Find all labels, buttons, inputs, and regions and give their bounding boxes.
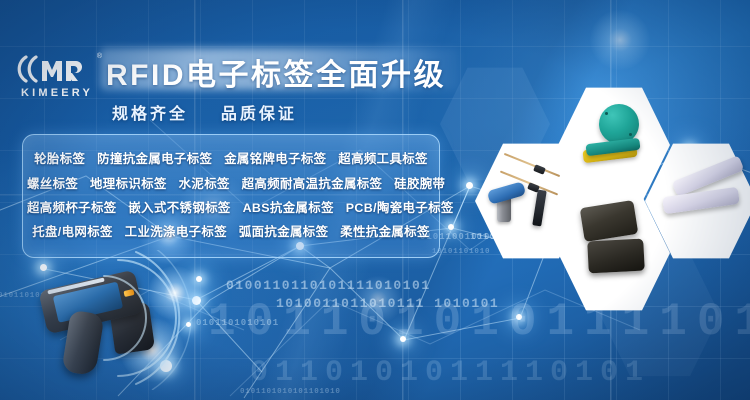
kmr-monogram-icon [14, 52, 100, 86]
tag-item: 金属铭牌电子标签 [224, 152, 326, 166]
binary-stream-big: 0110101011110101 [250, 356, 650, 390]
tag-item: 螺丝标签 [27, 177, 78, 191]
page-title: RFID电子标签全面升级 [106, 50, 446, 94]
signal-glow-icon [148, 266, 202, 320]
tag-row-4: 托盘/电网标签 工业洗涤电子标签 弧面抗金属标签 柔性抗金属标签 [23, 220, 439, 244]
tag-item: 地理标识标签 [90, 177, 167, 191]
network-node [466, 182, 473, 189]
tag-item: 防撞抗金属电子标签 [97, 152, 212, 166]
tag-item: 超高频工具标签 [338, 152, 428, 166]
tag-item: PCB/陶瓷电子标签 [346, 201, 454, 215]
subtitle-left: 规格齐全 [112, 106, 188, 123]
tag-item: 超高频杯子标签 [27, 201, 117, 215]
tag-list-panel: 轮胎标签 防撞抗金属电子标签 金属铭牌电子标签 超高频工具标签 螺丝标签 地理标… [22, 134, 440, 258]
tag-item: 硅胶腕带 [394, 177, 445, 191]
brand-logo[interactable]: ® KIMEERY [14, 52, 100, 108]
tag-item: 柔性抗金属标签 [340, 225, 430, 239]
signal-node [196, 276, 202, 282]
tag-row-1: 轮胎标签 防撞抗金属电子标签 金属铭牌电子标签 超高频工具标签 [23, 147, 439, 171]
tag-item: 轮胎标签 [34, 152, 85, 166]
binary-stream-xs-2: 10101101010 [432, 248, 490, 256]
logo-brand-name: KIMEERY [14, 87, 100, 99]
tag-item: 超高频耐高温抗金属标签 [242, 177, 383, 191]
signal-node [186, 322, 191, 327]
rfid-promo-banner: 1011010101111010 0110101011110101 101001… [0, 0, 750, 400]
tag-item: 工业洗涤电子标签 [125, 225, 227, 239]
network-node [448, 224, 454, 230]
tag-item: 托盘/电网标签 [32, 225, 113, 239]
binary-stream-mid-2: 0100110110101111010101 [226, 278, 431, 293]
binary-stream-mid-1: 1010011011010111 1010101 [276, 296, 499, 311]
headline-container: RFID电子标签全面升级 [100, 48, 460, 90]
tag-item: 嵌入式不锈钢标签 [128, 201, 230, 215]
subtitle: 规格齐全 品质保证 [112, 100, 297, 124]
tag-row-3: 超高频杯子标签 嵌入式不锈钢标签 ABS抗金属标签 PCB/陶瓷电子标签 [23, 196, 439, 220]
subtitle-right: 品质保证 [221, 106, 297, 123]
tag-item: ABS抗金属标签 [243, 201, 334, 215]
logo-mark-kmr: ® [14, 52, 100, 86]
tag-item: 弧面抗金属标签 [239, 225, 329, 239]
tag-item: 水泥标签 [179, 177, 230, 191]
black-anti-metal-tag [587, 239, 645, 274]
tag-row-2: 螺丝标签 地理标识标签 水泥标签 超高频耐高温抗金属标签 硅胶腕带 [23, 172, 439, 196]
binary-stream-xs-3: 0101101010101101010 [240, 388, 341, 396]
network-node [40, 264, 47, 271]
